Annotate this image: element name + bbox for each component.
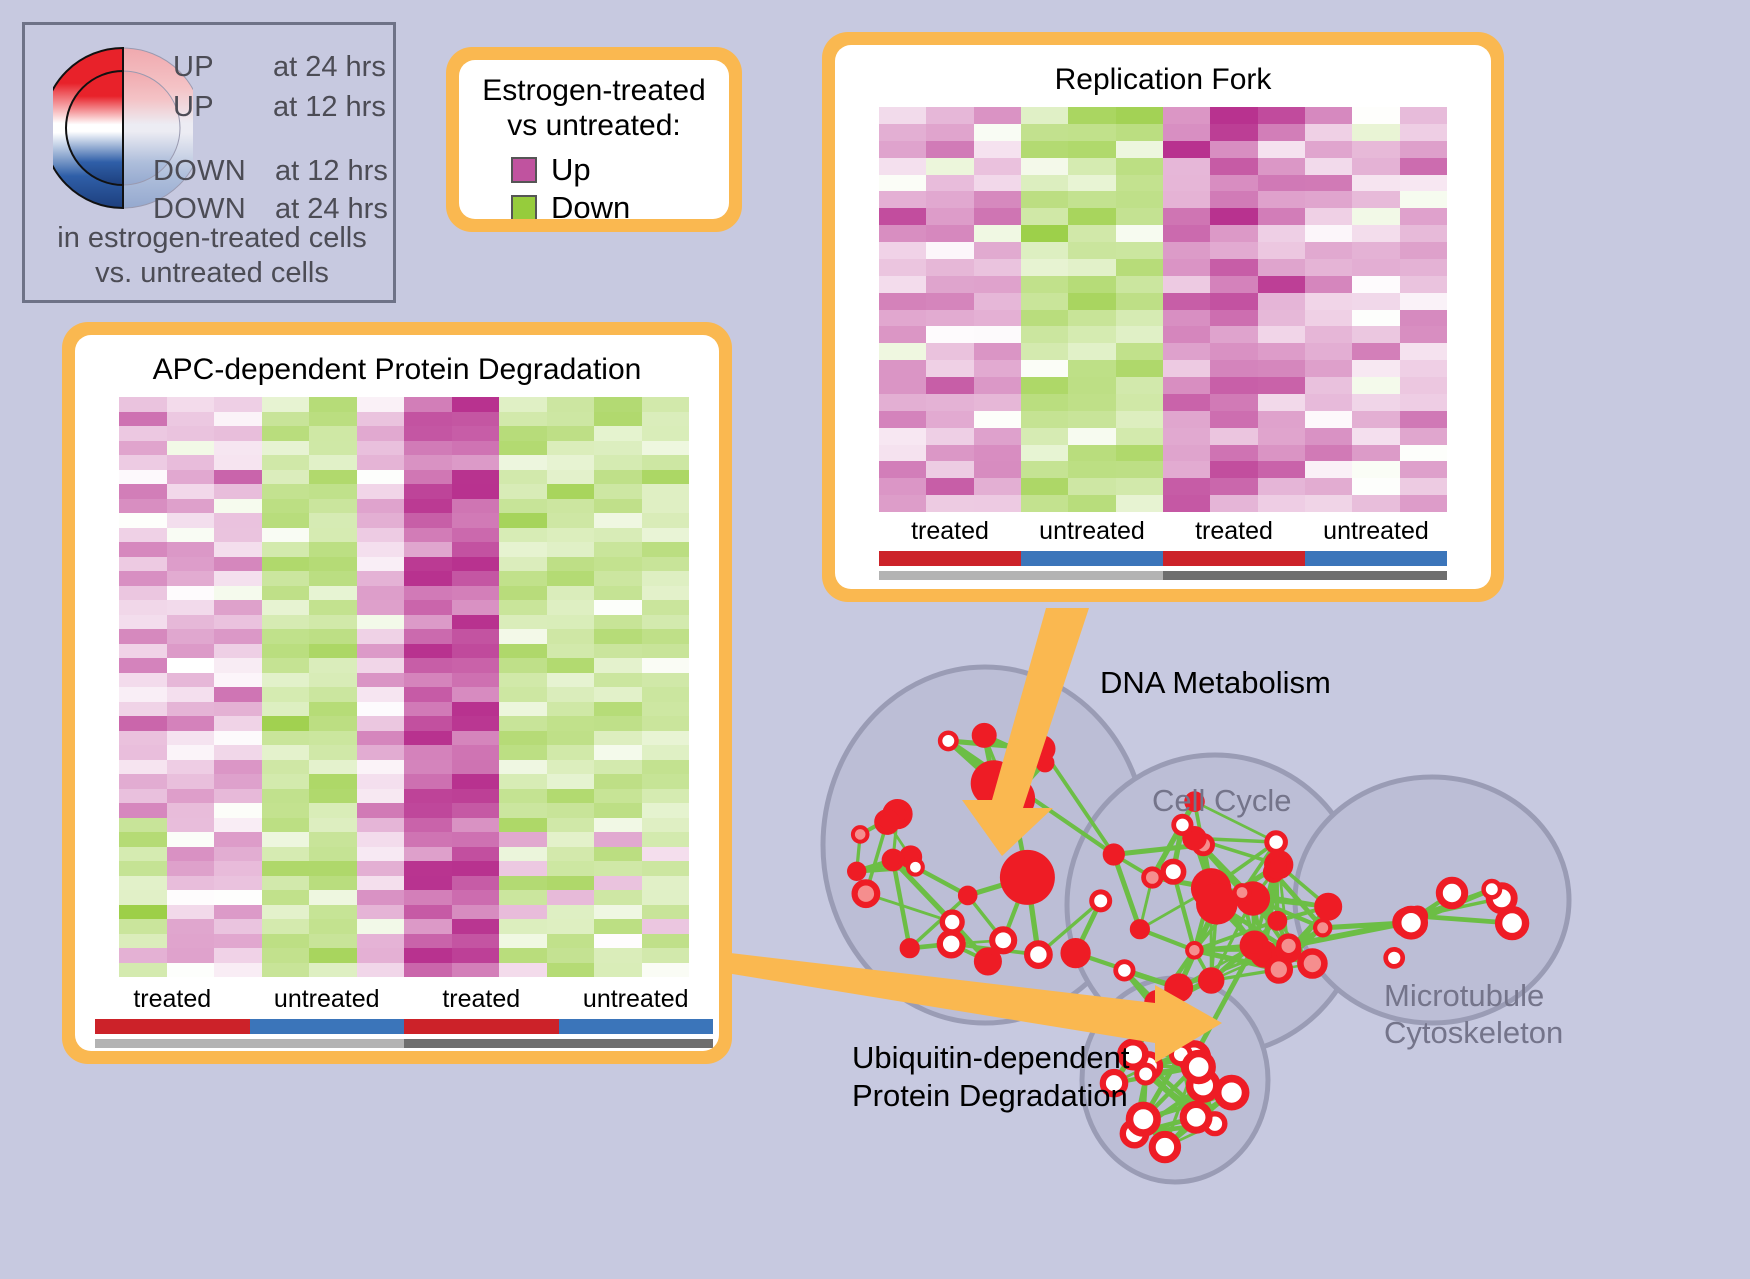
replication-fork-time-labels: 12 hrs 24 hrs [879,585,1447,589]
group-label-treated-24: treated [1163,517,1305,549]
group-label-untreated-12: untreated [250,985,405,1017]
replication-fork-title: Replication Fork [835,63,1491,97]
group-label-untreated-24: untreated [559,985,714,1017]
replication-fork-panel: Replication Fork treated untreated treat… [822,32,1504,602]
group-label-untreated-12: untreated [1021,517,1163,549]
time-label-12hrs: 12 hrs [879,585,1163,589]
legend-label-down: Down [551,190,630,219]
apc-degradation-panel: APC-dependent Protein Degradation treate… [62,322,732,1064]
pathway-network-graph [760,600,1750,1279]
color-key-box: UP at 24 hrs UP at 12 hrs DOWN at 12 hrs… [22,22,396,303]
legend-title: Estrogen-treated vs untreated: [459,74,729,143]
cluster-label-ubiquitin-line2: Protein Degradation [852,1078,1128,1114]
cluster-label-ubiquitin-line1: Ubiquitin-dependent [852,1040,1130,1076]
group-label-treated-12: treated [95,985,250,1017]
legend-title-line1: Estrogen-treated [459,74,729,109]
color-key-ring-label-up-24: UP [173,51,214,84]
replication-fork-group-labels: treated untreated treated untreated [879,517,1447,549]
time-label-24hrs: 24 hrs [1163,585,1447,589]
replication-fork-panel-inner: Replication Fork treated untreated treat… [835,45,1491,589]
legend-panel: Estrogen-treated vs untreated: Up Down [446,47,742,232]
color-key-caption-line2: vs. untreated cells [25,256,399,291]
color-key-caption-line1: in estrogen-treated cells [25,221,399,256]
color-key-time-label-12-inner: at 12 hrs [275,155,388,188]
color-key-ring-label-down-12: DOWN [153,155,246,188]
apc-degradation-panel-inner: APC-dependent Protein Degradation treate… [75,335,719,1051]
legend-title-line2: vs untreated: [459,109,729,144]
group-label-treated-12: treated [879,517,1021,549]
legend-label-up: Up [551,152,591,188]
color-key-ring-label-up-12: UP [173,91,214,124]
cluster-label-microtubule: Microtubule [1384,978,1544,1014]
apc-degradation-group-labels: treated untreated treated untreated [95,985,713,1017]
legend-swatch-up-icon [511,157,537,183]
apc-degradation-title: APC-dependent Protein Degradation [75,353,719,387]
legend-swatch-down-icon [511,195,537,219]
replication-fork-time-bar [879,571,1447,580]
legend-item-down: Down [511,190,630,219]
figure-canvas: UP at 24 hrs UP at 12 hrs DOWN at 12 hrs… [0,0,1750,1279]
legend-panel-inner: Estrogen-treated vs untreated: Up Down [459,60,729,219]
apc-degradation-time-bar [95,1039,713,1048]
color-key-time-label-12-outer: at 12 hrs [273,91,386,124]
group-label-untreated-24: untreated [1305,517,1447,549]
apc-degradation-heatmap [119,397,689,977]
legend-item-up: Up [511,152,591,188]
cluster-label-cell-cycle: Cell Cycle [1152,783,1292,819]
replication-fork-group-bar [879,551,1447,566]
color-key-caption: in estrogen-treated cells vs. untreated … [25,221,399,292]
color-key-time-label-24-outer: at 24 hrs [273,51,386,84]
cluster-label-cytoskeleton: Cytoskeleton [1384,1015,1563,1051]
cluster-label-dna-metabolism: DNA Metabolism [1100,665,1331,701]
apc-degradation-group-bar [95,1019,713,1034]
replication-fork-heatmap [879,107,1447,512]
group-label-treated-24: treated [404,985,559,1017]
